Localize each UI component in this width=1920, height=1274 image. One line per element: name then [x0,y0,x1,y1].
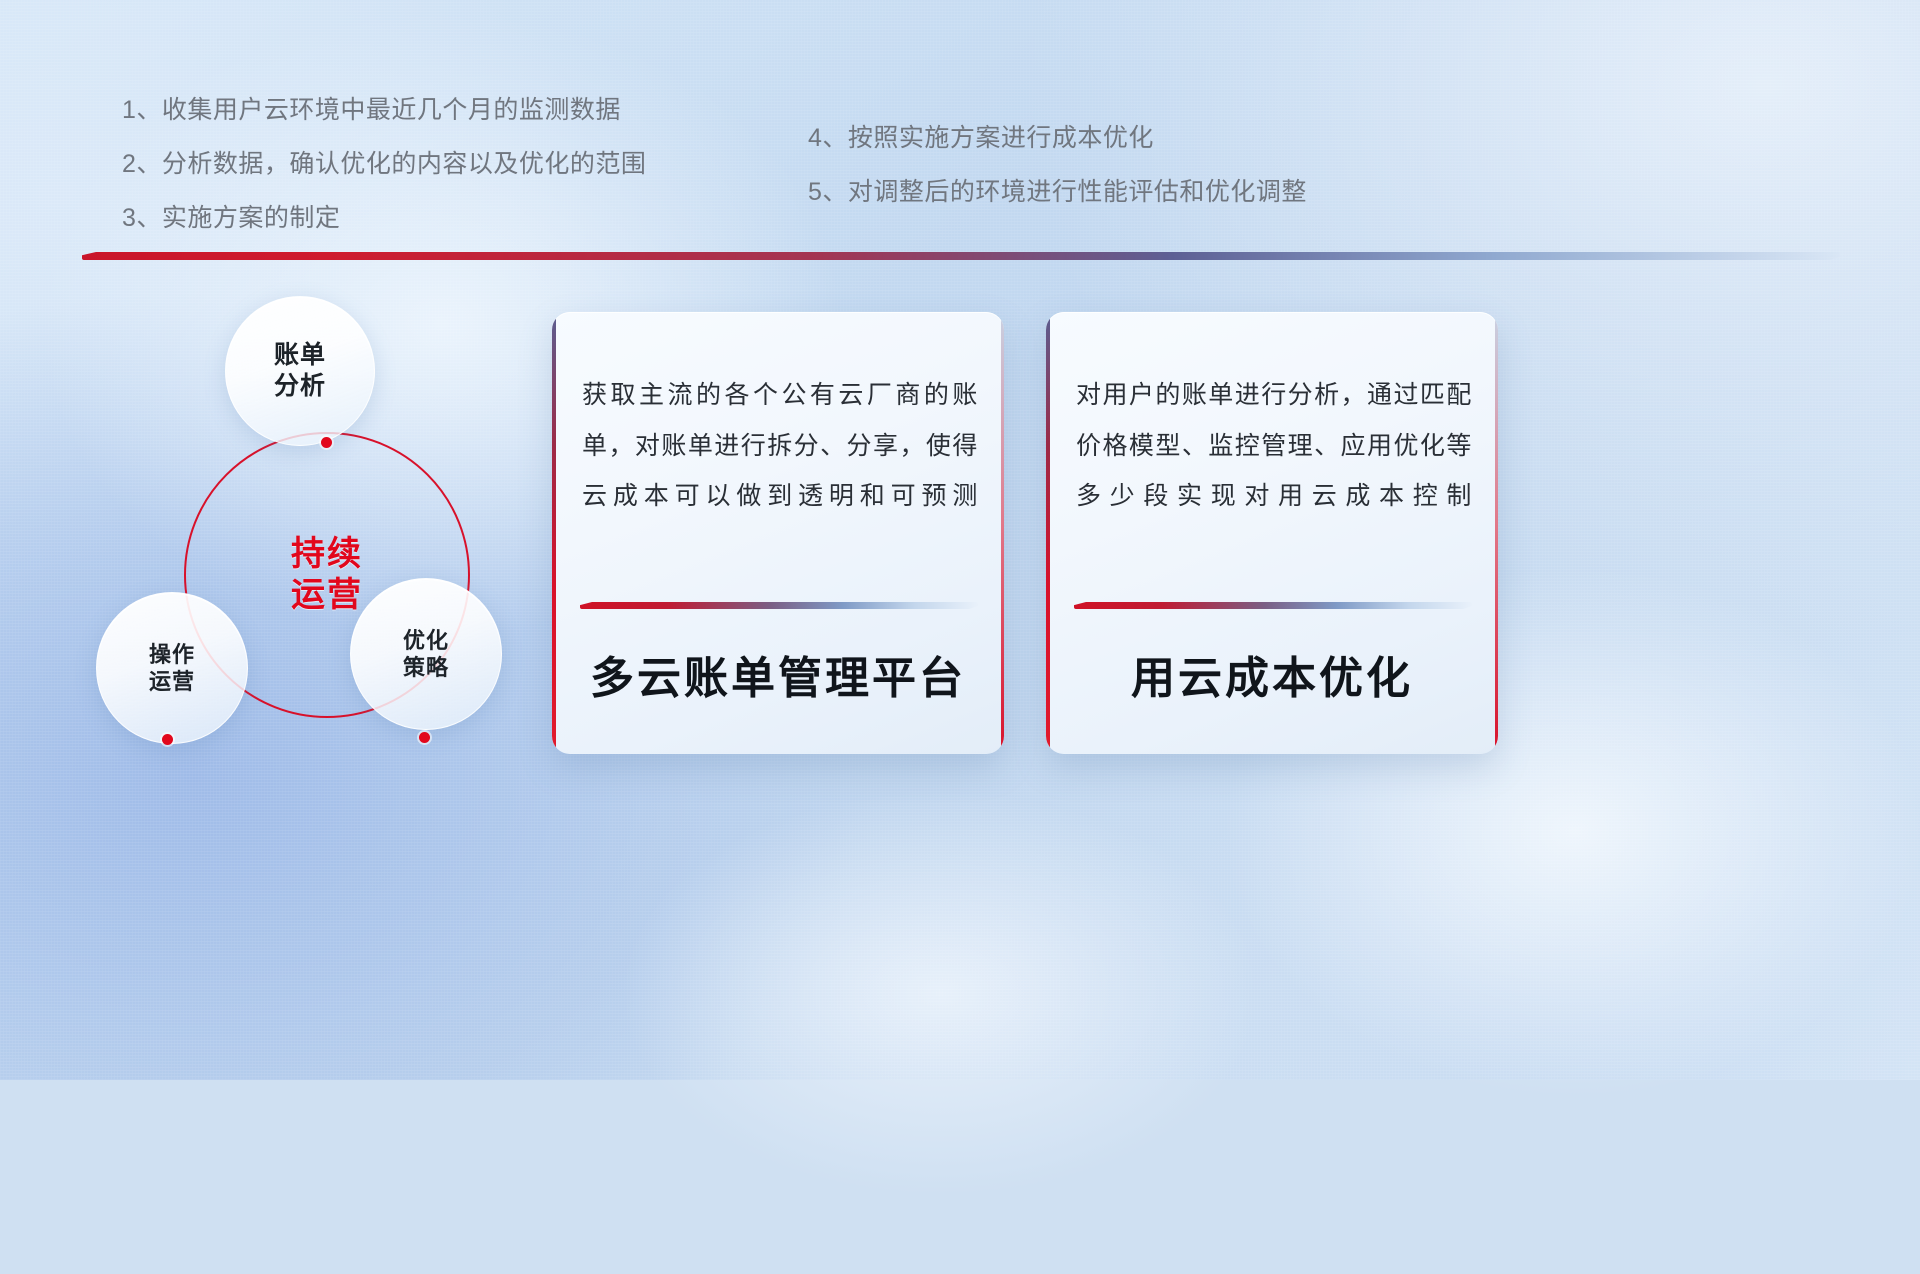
step-item: 3、实施方案的制定 [122,206,646,231]
bubble-label-line-1: 账单 [274,340,326,371]
step-item: 4、按照实施方案进行成本优化 [808,126,1307,151]
bubble-label-line-2: 策略 [403,654,449,682]
slide-stage: 1、收集用户云环境中最近几个月的监测数据 2、分析数据，确认优化的内容以及优化的… [0,0,1920,1080]
step-item: 2、分析数据，确认优化的内容以及优化的范围 [122,152,646,177]
bubble-label-line-1: 优化 [403,627,449,655]
bubble-billing-analysis[interactable]: 账单 分析 [225,296,375,446]
venn-diagram: 持续 运营 账单 分析 操作 运营 优化 策略 [78,282,548,782]
bubble-label-line-2: 分析 [274,371,326,402]
card-title: 用云成本优化 [1072,642,1472,706]
bubble-operations[interactable]: 操作 运营 [96,592,248,744]
card-description: 获取主流的各个公有云厂商的账单，对账单进行拆分、分享，使得云成本可以做到透明和可… [582,370,978,522]
card-description: 对用户的账单进行分析，通过匹配价格模型、监控管理、应用优化等多少段实现对用云成本… [1076,370,1472,522]
center-label-line-2: 运营 [291,575,363,616]
card-title: 多云账单管理平台 [578,642,978,706]
info-card-multicloud-billing[interactable]: 获取主流的各个公有云厂商的账单，对账单进行拆分、分享，使得云成本可以做到透明和可… [552,312,1004,754]
info-card-cost-optimization[interactable]: 对用户的账单进行分析，通过匹配价格模型、监控管理、应用优化等多少段实现对用云成本… [1046,312,1498,754]
connector-dot-left [162,734,173,745]
connector-dot-right [419,732,430,743]
step-list-right: 4、按照实施方案进行成本优化 5、对调整后的环境进行性能评估和优化调整 [808,126,1307,234]
section-divider-rule [82,252,1840,260]
connector-dot-top [321,437,332,448]
bubble-label-line-1: 操作 [149,641,195,669]
step-list-left: 1、收集用户云环境中最近几个月的监测数据 2、分析数据，确认优化的内容以及优化的… [122,98,646,260]
card-divider [580,602,978,609]
bubble-label-line-2: 运营 [149,668,195,696]
bubble-optimization-strategy[interactable]: 优化 策略 [350,578,502,730]
center-label-line-1: 持续 [291,534,363,575]
card-divider [1074,602,1472,609]
step-item: 5、对调整后的环境进行性能评估和优化调整 [808,180,1307,205]
step-item: 1、收集用户云环境中最近几个月的监测数据 [122,98,646,123]
